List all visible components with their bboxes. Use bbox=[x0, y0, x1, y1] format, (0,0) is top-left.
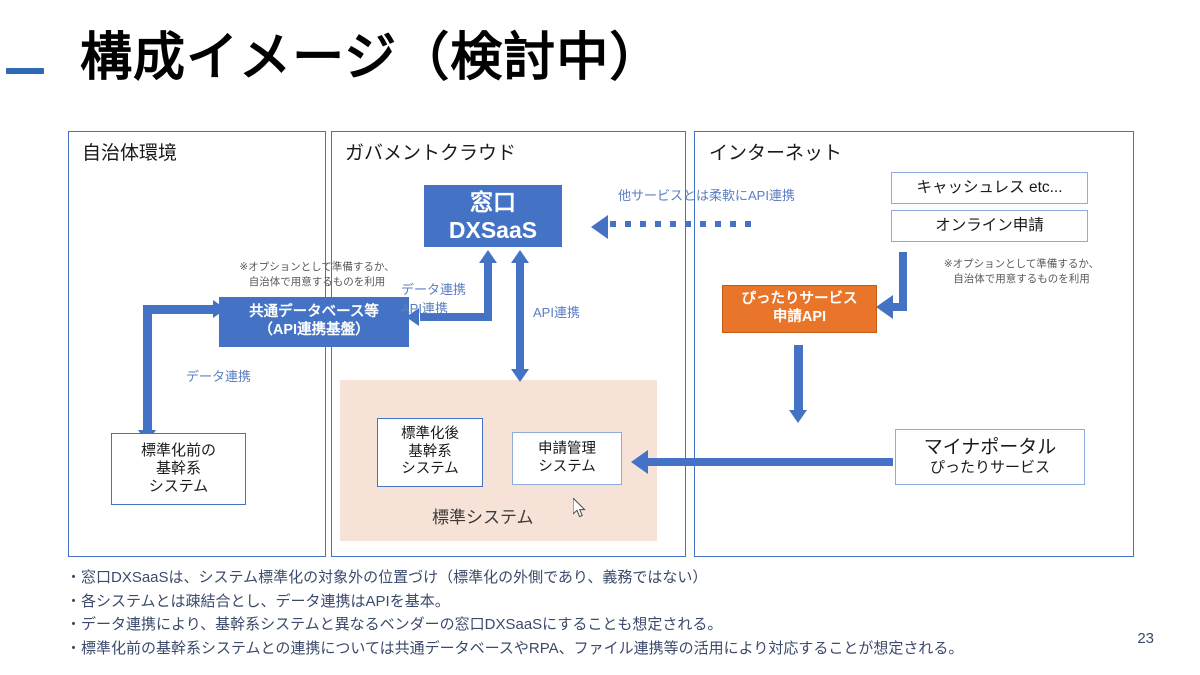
box-madoguchi-line2: DXSaaS bbox=[449, 216, 537, 244]
box-post-std-line3: システム bbox=[401, 461, 459, 479]
arrow-head-pittari-down bbox=[789, 410, 807, 423]
box-pre-std-line3: システム bbox=[149, 478, 209, 496]
box-madoguchi-dxsaas[interactable]: 窓口 DXSaaS bbox=[424, 185, 562, 247]
arrow-dot bbox=[670, 221, 676, 227]
arrow-head-dxsaas-std-up bbox=[511, 250, 529, 263]
arrow-head-dxsaas-std-down bbox=[511, 369, 529, 382]
arrow-label-data-renkei-center-line1: データ連携 bbox=[401, 281, 466, 300]
box-post-standardization-core-system[interactable]: 標準化後 基幹系 システム bbox=[377, 418, 483, 487]
box-pre-standardization-core-system[interactable]: 標準化前の 基幹系 システム bbox=[111, 433, 246, 505]
note-option-right-line1: ※オプションとして準備するか、 bbox=[914, 257, 1129, 272]
arrow-dotted-other-services bbox=[610, 221, 751, 227]
bullet-item: ・標準化前の基幹系システムとの連携については共通データベースやRPA、ファイル連… bbox=[66, 637, 1141, 661]
box-myna-portal-line2: ぴったりサービス bbox=[930, 459, 1050, 477]
note-option-left-line2: 自治体で用意するものを利用 bbox=[212, 275, 422, 290]
arrow-label-data-renkei-center-line2: API連携 bbox=[401, 300, 466, 319]
panel-label-gov-cloud: ガバメントクラウド bbox=[345, 138, 516, 165]
box-pittari-line1: ぴったりサービス bbox=[742, 291, 858, 309]
arrow-dot bbox=[730, 221, 736, 227]
arrow-head-dxsaas-up bbox=[479, 250, 497, 263]
panel-label-internet: インターネット bbox=[709, 138, 842, 165]
bullet-item: ・窓口DXSaaSは、システム標準化の対象外の位置づけ（標準化の外側であり、義務… bbox=[66, 566, 1141, 590]
arrow-shaft-to-common-db bbox=[143, 305, 215, 314]
box-post-std-line2: 基幹系 bbox=[408, 444, 452, 462]
box-pittari-line2: 申請API bbox=[773, 309, 826, 327]
arrow-head-myna-to-application-mgmt bbox=[631, 450, 648, 474]
arrow-label-api-renkei-center: API連携 bbox=[533, 305, 580, 322]
box-application-mgmt-line1: 申請管理 bbox=[538, 441, 596, 459]
arrow-shaft-online-app-left bbox=[893, 303, 907, 311]
bullet-item: ・各システムとは疎結合とし、データ連携はAPIを基本。 bbox=[66, 590, 1141, 614]
arrow-label-data-renkei-center: データ連携 API連携 bbox=[401, 281, 466, 319]
arrow-dot bbox=[745, 221, 751, 227]
box-online-application-label: オンライン申請 bbox=[935, 217, 1044, 236]
box-common-database-line2: （API連携基盤） bbox=[258, 322, 369, 340]
bullet-item: ・データ連携により、基幹系システムと異なるベンダーの窓口DXSaaSにすることも… bbox=[66, 613, 1141, 637]
arrow-head-into-pittari-api bbox=[876, 295, 893, 319]
arrow-dot bbox=[640, 221, 646, 227]
arrow-shaft-dxsaas-std-system bbox=[516, 262, 524, 370]
standard-system-area-label: 標準システム bbox=[432, 503, 534, 528]
mouse-cursor bbox=[573, 498, 587, 519]
arrow-dot bbox=[700, 221, 706, 227]
note-option-right: ※オプションとして準備するか、 自治体で用意するものを利用 bbox=[914, 257, 1129, 287]
box-cashless[interactable]: キャッシュレス etc... bbox=[891, 172, 1088, 204]
box-pre-std-line1: 標準化前の bbox=[141, 442, 216, 460]
slide-canvas: 構成イメージ（検討中） 自治体環境 ガバメントクラウド インターネット 標準シス… bbox=[0, 0, 1200, 675]
arrow-dot bbox=[625, 221, 631, 227]
box-madoguchi-line1: 窓口 bbox=[470, 188, 516, 216]
arrow-shaft-data-renkei-down bbox=[143, 305, 152, 433]
arrow-shaft-pittari-down bbox=[794, 345, 803, 413]
panel-label-local-gov: 自治体環境 bbox=[82, 138, 177, 165]
arrow-dot bbox=[655, 221, 661, 227]
box-online-application[interactable]: オンライン申請 bbox=[891, 210, 1088, 242]
box-pittari-service-api[interactable]: ぴったりサービス 申請API bbox=[722, 285, 877, 333]
arrow-dot bbox=[715, 221, 721, 227]
box-myna-portal-line1: マイナポータル bbox=[924, 436, 1057, 459]
arrow-head-other-services-left bbox=[591, 215, 608, 239]
box-common-database[interactable]: 共通データベース等 （API連携基盤） bbox=[219, 297, 409, 347]
bullet-list: ・窓口DXSaaSは、システム標準化の対象外の位置づけ（標準化の外側であり、義務… bbox=[66, 566, 1141, 661]
arrow-shaft-myna-to-application-mgmt bbox=[648, 458, 893, 466]
page-title: 構成イメージ（検討中） bbox=[80, 29, 662, 89]
arrow-label-other-services: 他サービスとは柔軟にAPI連携 bbox=[618, 188, 795, 205]
arrow-dot bbox=[685, 221, 691, 227]
box-application-management-system[interactable]: 申請管理 システム bbox=[512, 432, 622, 485]
box-application-mgmt-line2: システム bbox=[538, 459, 596, 477]
page-number: 23 bbox=[1137, 630, 1154, 647]
note-option-left: ※オプションとして準備するか、 自治体で用意するものを利用 bbox=[212, 260, 422, 290]
arrow-dot bbox=[610, 221, 616, 227]
note-option-left-line1: ※オプションとして準備するか、 bbox=[212, 260, 422, 275]
box-cashless-label: キャッシュレス etc... bbox=[916, 179, 1062, 198]
box-common-database-line1: 共通データベース等 bbox=[249, 304, 379, 322]
box-myna-portal[interactable]: マイナポータル ぴったりサービス bbox=[895, 429, 1085, 485]
note-option-right-line2: 自治体で用意するものを利用 bbox=[914, 272, 1129, 287]
box-post-std-line1: 標準化後 bbox=[401, 426, 459, 444]
box-pre-std-line2: 基幹系 bbox=[156, 460, 201, 478]
title-accent-dash bbox=[6, 68, 44, 74]
arrow-label-data-renkei-left: データ連携 bbox=[186, 369, 251, 386]
